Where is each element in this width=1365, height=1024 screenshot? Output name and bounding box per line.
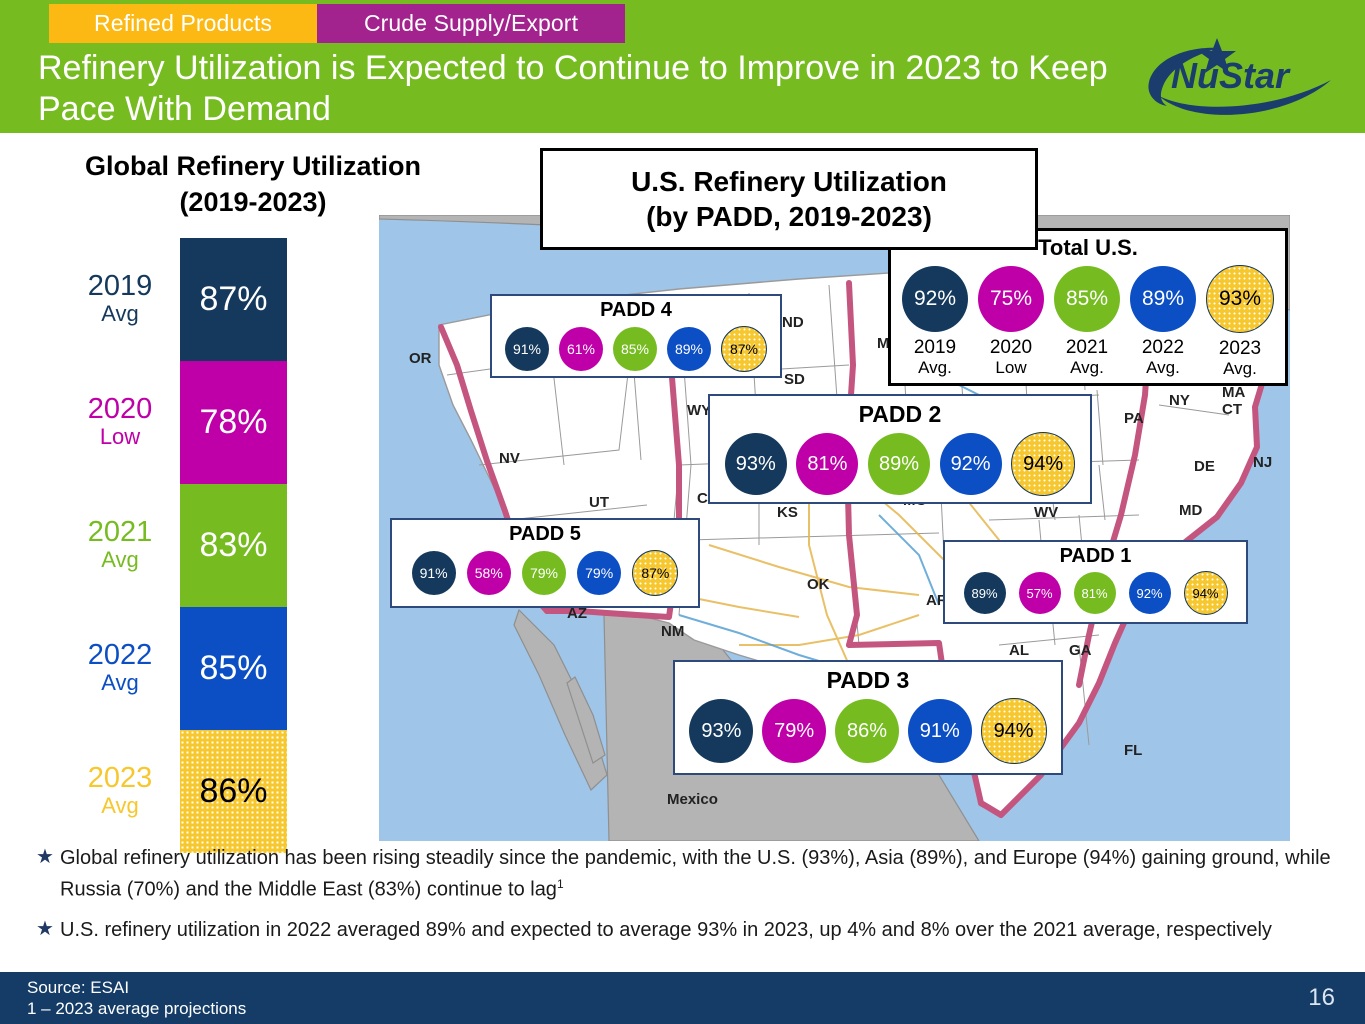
map-label-GA: GA (1069, 642, 1092, 659)
total-us-entry: 93% 2023 Avg. (1206, 265, 1274, 378)
panel-padd-2-title: PADD 2 (710, 401, 1090, 428)
map-title-line1: U.S. Refinery Utilization (631, 164, 947, 199)
padd-3-value-2019: 93% (689, 699, 753, 763)
bar-value-2020: 78% (180, 361, 287, 484)
bullet-item: ★ U.S. refinery utilization in 2022 aver… (36, 917, 1336, 943)
bar-year-2021: 2021 (60, 519, 180, 546)
map-label-NV: NV (499, 450, 520, 467)
padd-5-value-2020: 58% (467, 551, 511, 595)
map-label-FL: FL (1124, 742, 1142, 759)
left-chart-title-line1: Global Refinery Utilization (38, 148, 468, 184)
map-label-NJ: NJ (1253, 454, 1272, 471)
slide-header: Refined Products Crude Supply/Export Ref… (0, 0, 1365, 133)
padd-1-value-2020: 57% (1019, 572, 1061, 614)
padd-2-value-2021: 89% (868, 433, 930, 495)
tab-refined-products[interactable]: Refined Products (49, 4, 317, 43)
bullet-text-2: U.S. refinery utilization in 2022 averag… (60, 917, 1272, 943)
padd-5-value-2023: 87% (632, 550, 678, 596)
padd-4-value-2023: 87% (721, 326, 767, 372)
total-us-sub-2019: Avg. (918, 358, 952, 377)
bar-row: 2022 Avg 85% (60, 607, 360, 730)
total-us-sub-2023: Avg. (1223, 359, 1257, 378)
total-us-sub-2020: Low (995, 358, 1026, 377)
bar-label-2020: 2020 Low (60, 396, 180, 450)
panel-padd-5: PADD 5 91% 58% 79% 79% 87% (390, 518, 700, 608)
padd-5-value-2022: 79% (577, 551, 621, 595)
bar-sub-2020: Low (60, 423, 180, 450)
bar-year-2020: 2020 (60, 396, 180, 423)
star-icon: ★ (36, 917, 60, 943)
bar-label-2022: 2022 Avg (60, 642, 180, 696)
slide: Refined Products Crude Supply/Export Ref… (0, 0, 1365, 1024)
panel-total-us: Total U.S. 92% 2019 Avg. 75% 2020 Low 85… (888, 228, 1288, 386)
map-label-DE: DE (1194, 458, 1215, 475)
total-us-year-2021: 2021 (1066, 337, 1108, 358)
bullet-text-1: Global refinery utilization has been ris… (60, 845, 1336, 903)
map-label-CT: CT (1222, 401, 1242, 418)
padd-1-value-2023: 94% (1184, 571, 1228, 615)
page-title: Refinery Utilization is Expected to Cont… (38, 48, 1128, 130)
panel-padd-3-title: PADD 3 (675, 667, 1061, 694)
map-label-WV: WV (1034, 504, 1058, 521)
padd-2-value-2020: 81% (796, 433, 858, 495)
page-number: 16 (1308, 984, 1335, 1012)
total-us-year-2023: 2023 (1219, 338, 1261, 359)
nustar-logo-text: NuStar (1171, 55, 1291, 96)
total-us-sub-2022: Avg. (1146, 358, 1180, 377)
source-line-1: Source: ESAI (27, 977, 246, 998)
tab-crude-supply-export[interactable]: Crude Supply/Export (317, 4, 625, 43)
bar-year-2022: 2022 (60, 642, 180, 669)
global-utilization-bar-chart: 2019 Avg 87% 2020 Low 78% 2021 Avg 83% 2… (60, 238, 360, 853)
total-us-entry: 92% 2019 Avg. (902, 266, 968, 377)
padd-4-value-2022: 89% (667, 327, 711, 371)
padd-5-value-2021: 79% (522, 551, 566, 595)
panel-padd-4-circles: 91% 61% 85% 89% 87% (492, 326, 780, 372)
map-label-OK: OK (807, 576, 830, 593)
bar-year-2019: 2019 (60, 273, 180, 300)
map-label-MA: MA (1222, 384, 1245, 401)
total-us-value-2022: 89% (1130, 266, 1196, 332)
padd-1-value-2021: 81% (1074, 572, 1116, 614)
panel-padd-2-circles: 93% 81% 89% 92% 94% (710, 432, 1090, 496)
total-us-entry: 89% 2022 Avg. (1130, 266, 1196, 377)
padd-2-value-2022: 92% (940, 433, 1002, 495)
total-us-value-2020: 75% (978, 266, 1044, 332)
bar-row: 2023 Avg 86% (60, 730, 360, 853)
bar-year-2023: 2023 (60, 765, 180, 792)
padd-4-value-2021: 85% (613, 327, 657, 371)
total-us-entry: 85% 2021 Avg. (1054, 266, 1120, 377)
padd-1-value-2022: 92% (1129, 572, 1171, 614)
map-label-NY: NY (1169, 392, 1190, 409)
total-us-year-2019: 2019 (914, 337, 956, 358)
padd-4-value-2019: 91% (505, 327, 549, 371)
padd-3-value-2020: 79% (762, 699, 826, 763)
map-label-SD: SD (784, 371, 805, 388)
nustar-logo: NuStar (1145, 36, 1335, 118)
bullet-text-1-body: Global refinery utilization has been ris… (60, 847, 1331, 901)
padd-2-value-2023: 94% (1011, 432, 1075, 496)
bar-row: 2019 Avg 87% (60, 238, 360, 361)
map-label-Mexico: Mexico (667, 791, 718, 808)
bar-value-2021: 83% (180, 484, 287, 607)
bar-row: 2021 Avg 83% (60, 484, 360, 607)
total-us-entry: 75% 2020 Low (978, 266, 1044, 377)
map-label-OR: OR (409, 350, 432, 367)
left-chart-title: Global Refinery Utilization (2019-2023) (38, 148, 468, 220)
total-us-year-2020: 2020 (990, 337, 1032, 358)
panel-padd-3-circles: 93% 79% 86% 91% 94% (675, 698, 1061, 764)
panel-padd-3: PADD 3 93% 79% 86% 91% 94% (673, 660, 1063, 775)
padd-5-value-2019: 91% (412, 551, 456, 595)
tab-crude-supply-export-label: Crude Supply/Export (364, 10, 578, 37)
bullet-item: ★ Global refinery utilization has been r… (36, 845, 1336, 903)
total-us-value-2019: 92% (902, 266, 968, 332)
bar-value-2022: 85% (180, 607, 287, 730)
section-tabs: Refined Products Crude Supply/Export (49, 4, 625, 43)
source-line-2: 1 – 2023 average projections (27, 998, 246, 1019)
map-title-line2: (by PADD, 2019-2023) (646, 199, 932, 234)
panel-padd-5-title: PADD 5 (392, 523, 698, 546)
total-us-year-2022: 2022 (1142, 337, 1184, 358)
tab-refined-products-label: Refined Products (94, 10, 272, 37)
map-label-UT: UT (589, 494, 609, 511)
star-icon: ★ (36, 845, 60, 903)
bar-label-2023: 2023 Avg (60, 765, 180, 819)
bar-label-2021: 2021 Avg (60, 519, 180, 573)
padd-4-value-2020: 61% (559, 327, 603, 371)
total-us-value-2021: 85% (1054, 266, 1120, 332)
bar-value-2019: 87% (180, 238, 287, 361)
map-title-box: U.S. Refinery Utilization (by PADD, 2019… (540, 148, 1038, 250)
panel-padd-1: PADD 1 89% 57% 81% 92% 94% (943, 540, 1248, 624)
source-note: Source: ESAI 1 – 2023 average projection… (27, 977, 246, 1019)
total-us-sub-2021: Avg. (1070, 358, 1104, 377)
map-label-MD: MD (1179, 502, 1202, 519)
padd-3-value-2023: 94% (981, 698, 1047, 764)
bar-label-2019: 2019 Avg (60, 273, 180, 327)
panel-padd-4: PADD 4 91% 61% 85% 89% 87% (490, 294, 782, 378)
padd-2-value-2019: 93% (725, 433, 787, 495)
total-us-value-2023: 93% (1206, 265, 1274, 333)
panel-padd-4-title: PADD 4 (492, 299, 780, 322)
map-label-AL: AL (1009, 642, 1029, 659)
panel-padd-2: PADD 2 93% 81% 89% 92% 94% (708, 394, 1092, 504)
map-label-ND: ND (782, 314, 804, 331)
bar-row: 2020 Low 78% (60, 361, 360, 484)
bar-value-2023: 86% (180, 730, 287, 853)
padd-3-value-2022: 91% (908, 699, 972, 763)
slide-footer: Source: ESAI 1 – 2023 average projection… (0, 972, 1365, 1024)
padd-1-value-2019: 89% (964, 572, 1006, 614)
map-label-KS: KS (777, 504, 798, 521)
map-label-NM: NM (661, 623, 684, 640)
bullet-list: ★ Global refinery utilization has been r… (36, 845, 1336, 957)
bar-sub-2019: Avg (60, 300, 180, 327)
panel-padd-1-title: PADD 1 (945, 545, 1246, 568)
map-label-PA: PA (1124, 410, 1144, 427)
bar-sub-2022: Avg (60, 669, 180, 696)
bullet-text-1-footnote: 1 (557, 877, 564, 891)
panel-padd-1-circles: 89% 57% 81% 92% 94% (945, 571, 1246, 615)
panel-padd-5-circles: 91% 58% 79% 79% 87% (392, 550, 698, 596)
bar-sub-2023: Avg (60, 792, 180, 819)
panel-total-us-circles: 92% 2019 Avg. 75% 2020 Low 85% 2021 Avg.… (891, 265, 1285, 378)
bar-sub-2021: Avg (60, 546, 180, 573)
padd-3-value-2021: 86% (835, 699, 899, 763)
